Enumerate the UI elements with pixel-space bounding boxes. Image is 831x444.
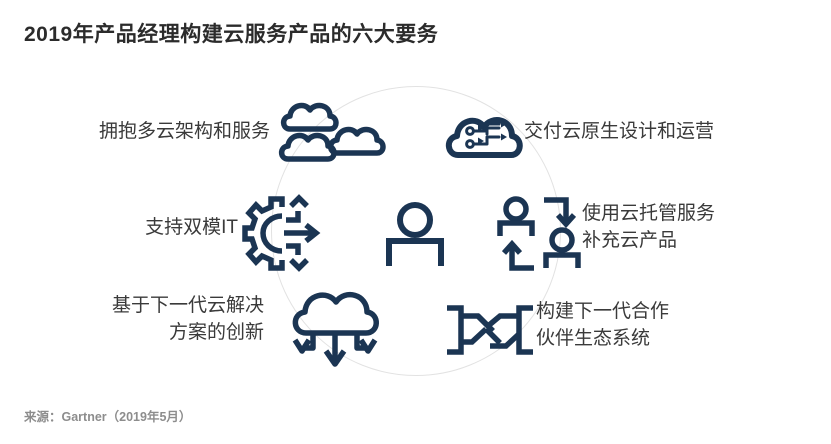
gear-arrows-icon (246, 194, 332, 272)
label-next-gen-innovation: 基于下一代云解决 方案的创新 (14, 292, 264, 346)
source-note: 来源：Gartner（2019年5月） (24, 406, 191, 425)
slide-canvas: 2019年产品经理构建云服务产品的六大要务 (0, 0, 831, 444)
cloud-download-arrows-icon (288, 290, 382, 368)
handshake-icon (444, 302, 536, 364)
three-clouds-icon (278, 96, 386, 168)
label-bimodal-it: 支持双模IT (18, 214, 238, 241)
cloud-network-nodes-icon (443, 98, 525, 168)
two-people-exchange-icon (498, 196, 582, 272)
page-title: 2019年产品经理构建云服务产品的六大要务 (24, 18, 438, 48)
label-partner-ecosystem: 构建下一代合作 伙伴生态系统 (536, 298, 786, 352)
circular-diagram: 拥抱多云架构和服务 交付云原生设计和运营 支持双模IT 使用云托管服务 补充云产… (0, 62, 831, 392)
label-managed-services: 使用云托管服务 补充云产品 (582, 200, 812, 254)
label-cloud-native: 交付云原生设计和运营 (524, 118, 814, 145)
person-icon (378, 200, 452, 270)
label-multicloud: 拥抱多云架构和服务 (18, 118, 270, 145)
